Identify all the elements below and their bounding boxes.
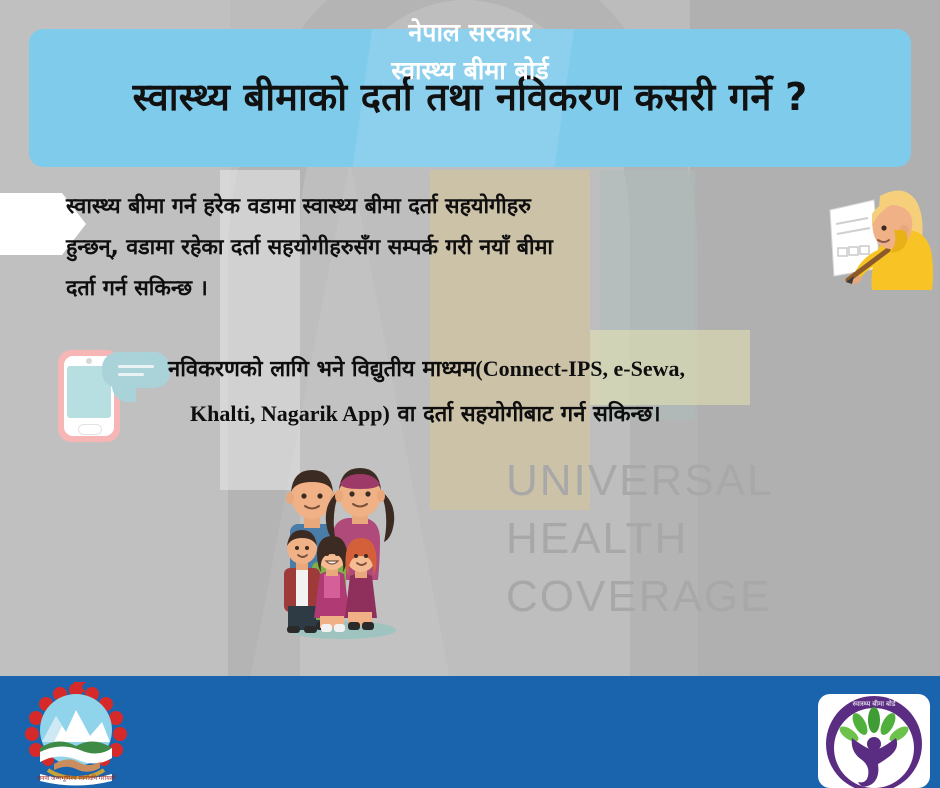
paragraph-renewal-line-2-latin: Khalti, Nagarik App) — [190, 401, 390, 426]
paragraph-renewal: नविकरणको लागि भने विद्युतीय माध्यम(Conne… — [168, 347, 928, 437]
chat-bubble-line-1 — [118, 365, 154, 368]
chat-bubble-icon — [102, 352, 170, 388]
watermark-line-1: UNIVERSAL — [506, 452, 773, 510]
health-insurance-board-logo-icon: स्वास्थ्य बीमा बोर्ड — [818, 694, 930, 788]
paragraph-registration-line-1: स्वास्थ्य बीमा गर्न हरेक वडामा स्वास्थ्य… — [66, 186, 828, 227]
watermark-line-3: COVERAGE — [506, 568, 773, 626]
footer-line-2: स्वास्थ्य बीमा बोर्ड — [0, 52, 940, 90]
nepal-government-emblem-icon: जननी जन्मभूमिश्च स्वर्गादपि गरीयसी — [18, 680, 140, 786]
paragraph-renewal-line-1-latin: (Connect-IPS, e-Sewa, — [475, 356, 685, 381]
chat-bubble-line-2 — [118, 373, 144, 376]
family-of-five-illustration — [262, 462, 422, 640]
universal-health-coverage-watermark: UNIVERSAL HEALTH COVERAGE — [506, 452, 773, 626]
phone-camera — [86, 358, 92, 364]
paragraph-registration-line-2: हुन्छन्, वडामा रहेका दर्ता सहयोगीहरुसँग … — [66, 227, 828, 268]
paragraph-renewal-line-2: Khalti, Nagarik App) वा दर्ता सहयोगीबाट … — [168, 392, 928, 437]
paragraph-renewal-line-1: नविकरणको लागि भने विद्युतीय माध्यम(Conne… — [168, 347, 928, 392]
svg-text:स्वास्थ्य बीमा बोर्ड: स्वास्थ्य बीमा बोर्ड — [852, 699, 896, 708]
phone-home-button — [78, 424, 102, 435]
infographic-poster: स्वास्थ्य बीमाको दर्ता तथा नविकरण कसरी ग… — [0, 0, 940, 788]
footer-line-1: नेपाल सरकार — [0, 14, 940, 52]
paragraph-registration-line-3: दर्ता गर्न सकिन्छ । — [66, 268, 828, 309]
paragraph-renewal-line-1-devanagari: नविकरणको लागि भने विद्युतीय माध्यम — [168, 357, 475, 382]
paragraph-renewal-line-2-devanagari: वा दर्ता सहयोगीबाट गर्न सकिन्छ। — [390, 402, 661, 427]
watermark-line-2: HEALTH — [506, 510, 773, 568]
paragraph-registration: स्वास्थ्य बीमा गर्न हरेक वडामा स्वास्थ्य… — [66, 186, 828, 309]
footer-bar — [0, 676, 940, 788]
woman-filling-form-illustration — [828, 172, 940, 290]
footer-text: नेपाल सरकार स्वास्थ्य बीमा बोर्ड — [0, 14, 940, 90]
svg-text:जननी जन्मभूमिश्च स्वर्गादपि गर: जननी जन्मभूमिश्च स्वर्गादपि गरीयसी — [37, 774, 116, 782]
family-girl-center — [314, 536, 350, 632]
family-girl-right — [345, 538, 377, 630]
